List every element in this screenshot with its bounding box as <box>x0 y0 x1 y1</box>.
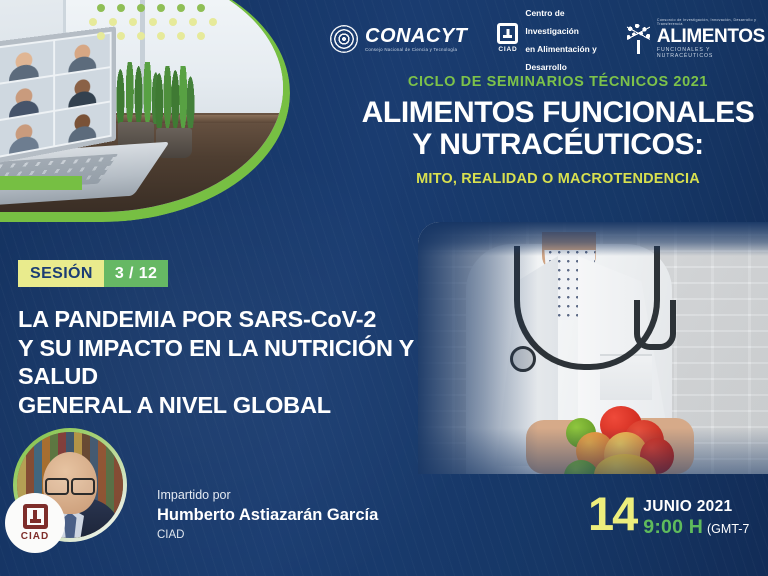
speaker-name: Humberto Astiazarán García <box>157 505 378 526</box>
session-badge-count: 3 / 12 <box>104 260 168 287</box>
conacyt-tagline: Consejo Nacional de Ciencia y Tecnología <box>365 48 467 52</box>
alimentos-top-line: Consorcio de Investigación, Innovación, … <box>657 19 768 26</box>
logo-ciad: CIAD Centro de Investigación en Alimenta… <box>497 3 597 75</box>
event-time: 9:00 H <box>643 517 703 538</box>
main-title-line-2: Y NUTRACÉUTICOS: <box>352 129 764 161</box>
decorative-dots-row <box>89 18 217 26</box>
alimentos-wordmark: Consorcio de Investigación, Innovación, … <box>657 19 768 59</box>
alimentos-sub: FUNCIONALES Y NUTRACÉUTICOS <box>657 48 768 58</box>
ciad-book-glyph-icon <box>23 504 48 529</box>
doctor-holding-vegetables-photo <box>418 222 768 474</box>
logo-row: CONACYT Consejo Nacional de Ciencia y Te… <box>330 14 768 64</box>
video-tile <box>0 112 53 156</box>
laptop-photo-card <box>0 0 290 222</box>
session-title-line-1: LA PANDEMIA POR SARS-CoV-2 <box>18 305 438 334</box>
main-subtitle: MITO, REALIDAD O MACROTENDENCIA <box>352 171 764 187</box>
event-month-year: JUNIO 2021 <box>643 498 732 515</box>
alimentos-tree-icon <box>627 24 650 54</box>
speaker-org: CIAD <box>157 528 378 543</box>
alimentos-name: ALIMENTOS <box>657 26 765 47</box>
event-time-row: 9:00 H (GMT-7 <box>643 517 749 538</box>
ciad-line-2: en Alimentación y Desarrollo <box>525 44 596 72</box>
main-title-line-1: ALIMENTOS FUNCIONALES <box>352 97 764 129</box>
photo-fade-bottom <box>418 428 768 474</box>
decorative-dots-row <box>97 4 205 12</box>
session-badge: SESIÓN 3 / 12 <box>18 260 168 287</box>
main-title: ALIMENTOS FUNCIONALES Y NUTRACÉUTICOS: <box>352 97 764 161</box>
seminar-poster: CONACYT Consejo Nacional de Ciencia y Te… <box>0 0 768 576</box>
event-timezone: (GMT-7 <box>707 523 749 537</box>
ciad-badge-text: CIAD <box>21 531 49 542</box>
conacyt-name: CONACYT <box>365 25 467 47</box>
date-details: JUNIO 2021 9:00 H (GMT-7 <box>643 495 749 538</box>
ciad-line-1: Centro de Investigación <box>525 8 579 36</box>
series-kicker: CICLO DE SEMINARIOS TÉCNICOS 2021 <box>352 74 764 90</box>
headline-block: CICLO DE SEMINARIOS TÉCNICOS 2021 ALIMEN… <box>352 74 764 187</box>
glasses-icon <box>45 478 95 491</box>
logo-conacyt: CONACYT Consejo Nacional de Ciencia y Te… <box>330 25 467 53</box>
logo-alimentos: Consorcio de Investigación, Innovación, … <box>627 19 768 59</box>
conacyt-dot-sphere-icon <box>330 25 358 53</box>
video-tile <box>55 103 110 146</box>
speaker-info: Impartido por Humberto Astiazarán García… <box>157 488 378 543</box>
event-day: 14 <box>588 495 636 534</box>
session-title-line-3: GENERAL A NIVEL GLOBAL <box>18 391 438 420</box>
conacyt-wordmark: CONACYT Consejo Nacional de Ciencia y Te… <box>365 26 467 52</box>
ciad-book-glyph-icon: CIAD <box>497 23 518 56</box>
ciad-glyph-shape <box>497 23 518 44</box>
stethoscope-tube <box>634 300 676 350</box>
speaker-prefix: Impartido por <box>157 488 378 504</box>
ciad-circle-badge: CIAD <box>5 493 65 553</box>
ciad-acronym: CIAD <box>498 46 517 53</box>
session-title: LA PANDEMIA POR SARS-CoV-2 Y SU IMPACTO … <box>18 305 438 420</box>
ciad-name-block: Centro de Investigación en Alimentación … <box>525 3 597 75</box>
decorative-dots-row <box>97 32 205 40</box>
session-badge-label: SESIÓN <box>18 260 104 287</box>
photo-green-band <box>0 176 82 190</box>
session-title-line-2: Y SU IMPACTO EN LA NUTRICIÓN Y SALUD <box>18 334 438 391</box>
date-block: 14 JUNIO 2021 9:00 H (GMT-7 <box>588 495 749 538</box>
photo-plant-leaves <box>150 66 196 128</box>
